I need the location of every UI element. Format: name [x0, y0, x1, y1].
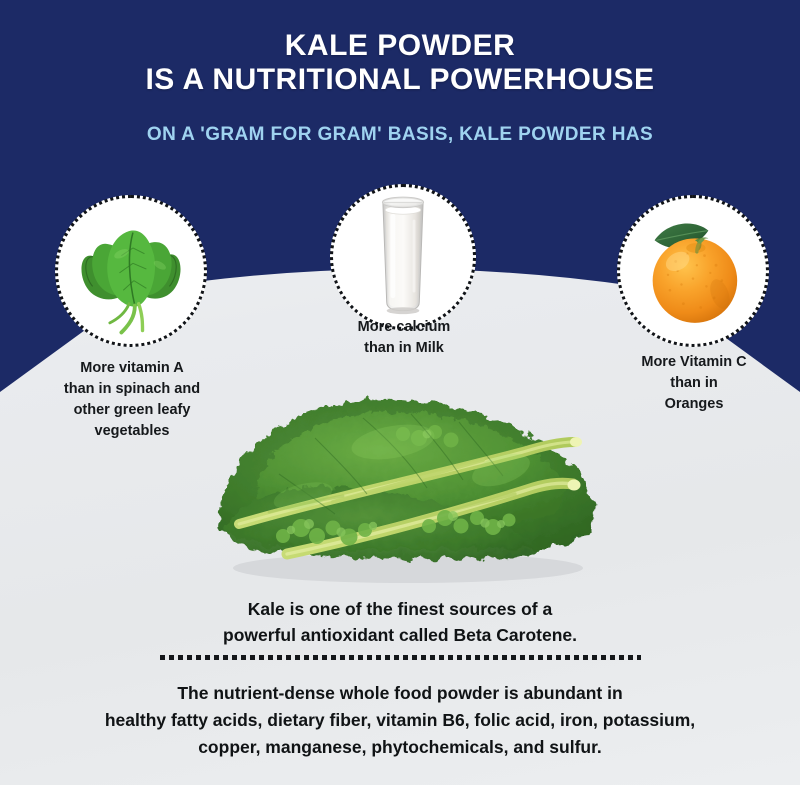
orange-fruit-icon [620, 198, 766, 344]
outro-line: The nutrient-dense whole food powder is … [18, 680, 782, 707]
poster-title-line-2: IS A NUTRITIONAL POWERHOUSE [0, 63, 800, 97]
lede-line: Kale is one of the finest sources of a [100, 596, 700, 622]
badge-calcium [330, 184, 476, 330]
outro-text: The nutrient-dense whole food powder is … [18, 680, 782, 761]
caption-calcium: More calcium than in Milk [325, 317, 483, 359]
caption-vitamin-c: More Vitamin C than in Oranges [600, 352, 788, 415]
kale-hero-image [183, 378, 623, 593]
outro-line: healthy fatty acids, dietary fiber, vita… [18, 707, 782, 734]
kale-leaves-photo [183, 378, 623, 593]
caption-line: than in Milk [325, 338, 483, 359]
infographic-poster: KALE POWDER IS A NUTRITIONAL POWERHOUSE … [0, 0, 800, 785]
badge-vitamin-c [617, 195, 769, 347]
outro-line: copper, manganese, phytochemicals, and s… [18, 734, 782, 761]
caption-line: More Vitamin C [600, 352, 788, 373]
spinach-leaves-icon [58, 198, 204, 344]
caption-line: Oranges [600, 394, 788, 415]
lede-text: Kale is one of the finest sources of a p… [100, 596, 700, 648]
caption-line: More calcium [325, 317, 483, 338]
caption-line: than in [600, 373, 788, 394]
caption-line: More vitamin A [22, 358, 242, 379]
dotted-divider [160, 655, 641, 660]
glass-of-milk-icon [333, 187, 473, 327]
lede-line: powerful antioxidant called Beta Caroten… [100, 622, 700, 648]
poster-title-line-1: KALE POWDER [0, 29, 800, 63]
poster-subtitle: ON A 'GRAM FOR GRAM' BASIS, KALE POWDER … [0, 124, 800, 146]
badge-vitamin-a [55, 195, 207, 347]
